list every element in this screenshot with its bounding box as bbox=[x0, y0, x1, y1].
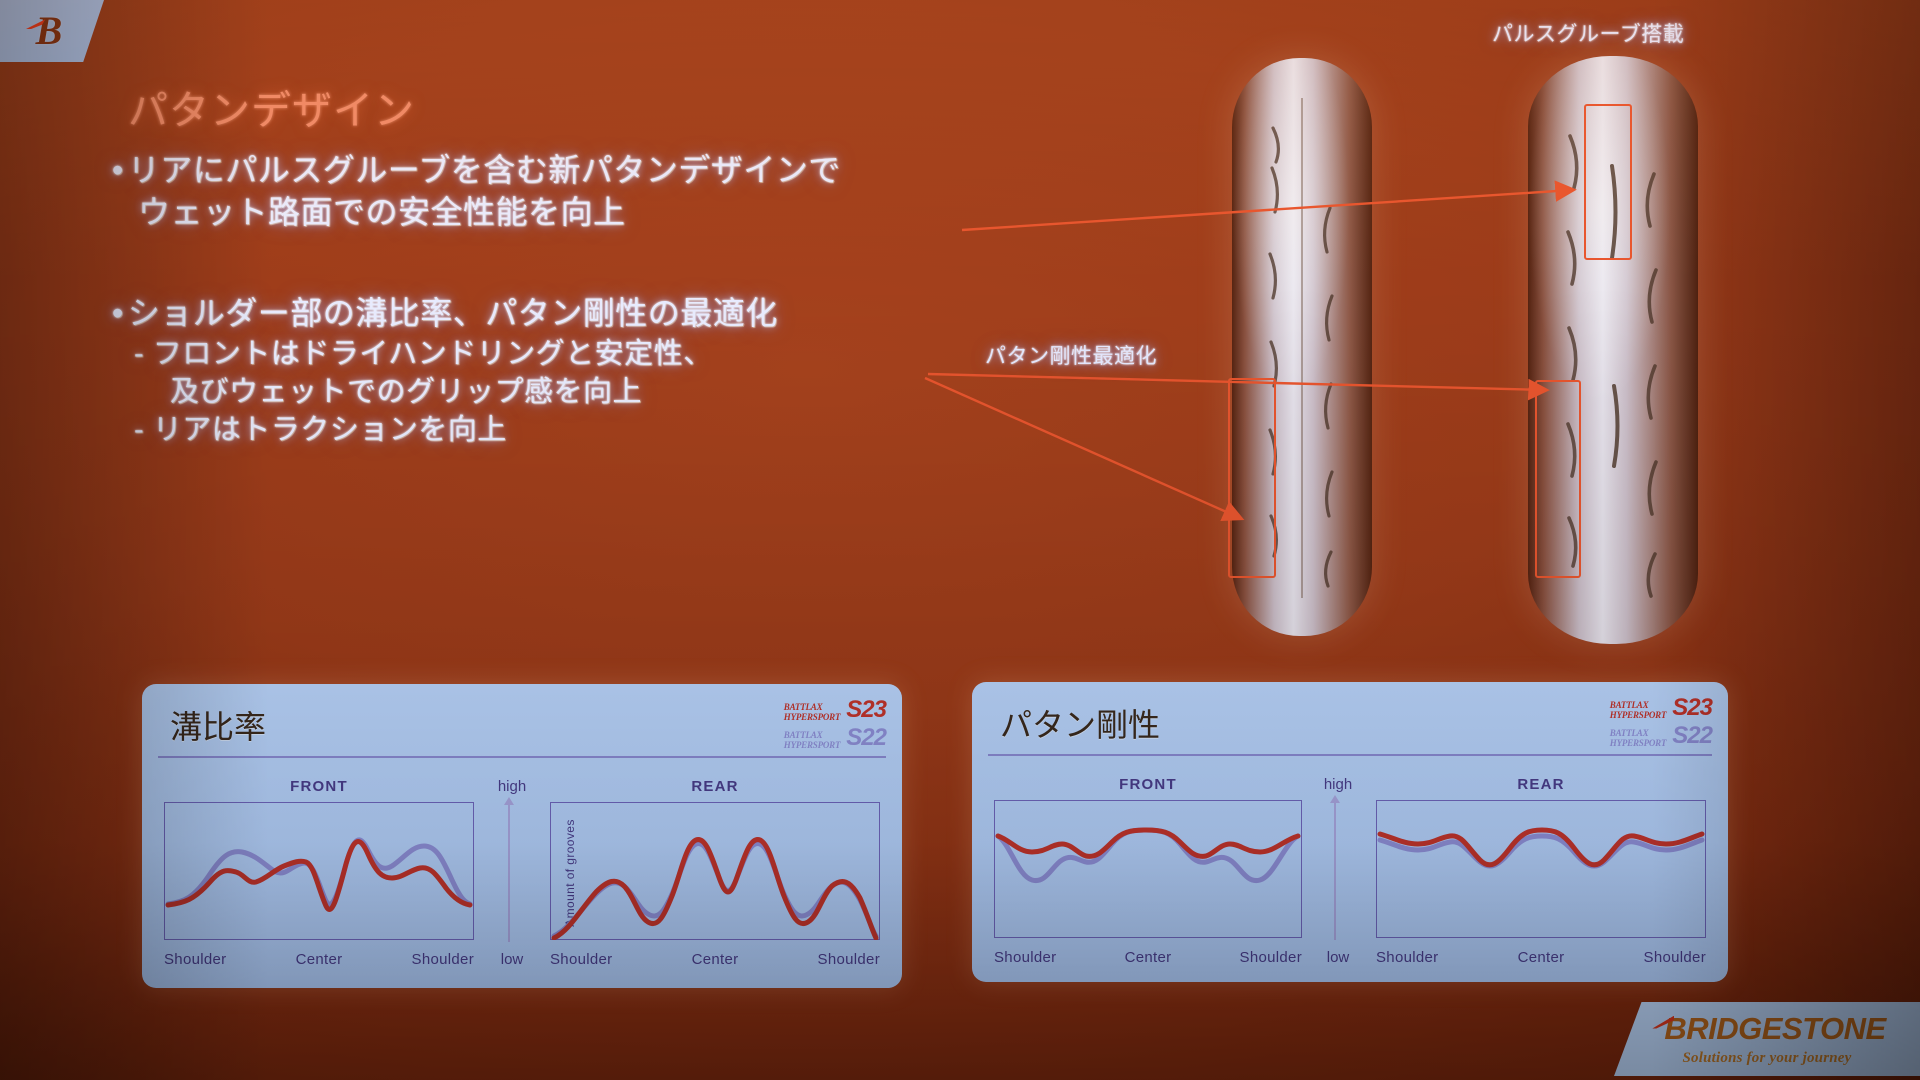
legend-s23: BATTLAX HYPERSPORT S23 bbox=[1610, 696, 1712, 720]
bullet-1-line-1: リアにパルスグルーブを含む新パタンデザインで bbox=[128, 152, 841, 188]
sub-bullet-1-line-1: フロントはドライハンドリングと安定性、 bbox=[153, 338, 713, 370]
legend-s22-model: S22 bbox=[846, 726, 886, 750]
chart-x-label-left: Shoulder bbox=[1376, 949, 1438, 966]
panel-pattern-rigidity: パタン剛性 BATTLAX HYPERSPORT S23 BATTLAX HYP… bbox=[972, 682, 1728, 982]
sub-bullet-marker: - bbox=[134, 338, 144, 370]
bridgestone-footer-logo: BRIDGESTONE Solutions for your journey bbox=[1614, 1002, 1920, 1076]
curve-s23 bbox=[998, 830, 1298, 856]
chart-y-axis-rigidity: high low bbox=[1308, 776, 1368, 966]
chart-x-label-left: Shoulder bbox=[164, 951, 226, 968]
chart-x-label-right: Shoulder bbox=[412, 951, 474, 968]
chart-title: FRONT bbox=[994, 776, 1302, 793]
curve-s22 bbox=[998, 830, 1298, 881]
panel-divider bbox=[988, 754, 1712, 756]
legend-s23-name2: HYPERSPORT bbox=[784, 713, 841, 722]
chart-y-axis-groove: high Amount of grooves low bbox=[482, 778, 542, 968]
bullet-spacer bbox=[112, 247, 902, 293]
legend-s22-model: S22 bbox=[1672, 724, 1712, 748]
chart-title: REAR bbox=[550, 778, 880, 795]
axis-high-label: high bbox=[1324, 776, 1352, 793]
bullet-marker: • bbox=[112, 152, 124, 188]
legend-s22: BATTLAX HYPERSPORT S22 bbox=[1610, 724, 1712, 748]
chart-x-label-mid: Center bbox=[1518, 949, 1565, 966]
bullet-item-2: •ショルダー部の溝比率、パタン剛性の最適化 - フロントはドライハンドリングと安… bbox=[112, 293, 902, 449]
rear-shoulder-marker-box bbox=[1535, 380, 1581, 578]
chart-x-label-left: Shoulder bbox=[994, 949, 1056, 966]
axis-arrow-icon bbox=[1334, 802, 1336, 940]
axis-arrow-icon bbox=[508, 804, 510, 942]
slide-canvas: B パタンデザイン •リアにパルスグルーブを含む新パタンデザインで ウェット路面… bbox=[0, 0, 1920, 1080]
pulse-groove-annotation: パルスグルーブ搭載 bbox=[1492, 18, 1684, 48]
legend-s23-model: S23 bbox=[1672, 696, 1712, 720]
curve-s23 bbox=[554, 840, 876, 938]
chart-curves bbox=[550, 802, 880, 940]
panel-title: パタン剛性 bbox=[1000, 700, 1160, 746]
axis-low-label: low bbox=[501, 951, 524, 968]
panel-groove-ratio: 溝比率 BATTLAX HYPERSPORT S23 BATTLAX HYPER… bbox=[142, 684, 902, 988]
bullet-marker: • bbox=[112, 295, 124, 331]
chart-x-label-mid: Center bbox=[692, 951, 739, 968]
front-shoulder-marker-box bbox=[1228, 378, 1276, 578]
panel-title: 溝比率 bbox=[170, 702, 266, 748]
legend-s23-model: S23 bbox=[846, 698, 886, 722]
chart-x-label-left: Shoulder bbox=[550, 951, 612, 968]
chart-x-label-mid: Center bbox=[1125, 949, 1172, 966]
bullet-list: •リアにパルスグルーブを含む新パタンデザインで ウェット路面での安全性能を向上 … bbox=[112, 150, 902, 464]
brand-tagline: Solutions for your journey bbox=[1683, 1051, 1852, 1066]
brand-legend: BATTLAX HYPERSPORT S23 BATTLAX HYPERSPOR… bbox=[784, 698, 886, 754]
sub-bullet-2-line-1: リアはトラクションを向上 bbox=[153, 414, 507, 446]
chart-curves bbox=[1376, 800, 1706, 938]
chart-curves bbox=[994, 800, 1302, 938]
chart-title: REAR bbox=[1376, 776, 1706, 793]
axis-high-label: high bbox=[498, 778, 526, 795]
legend-s22-name2: HYPERSPORT bbox=[784, 741, 841, 750]
brand-legend: BATTLAX HYPERSPORT S23 BATTLAX HYPERSPOR… bbox=[1610, 696, 1712, 752]
panel-divider bbox=[158, 756, 886, 758]
chart-rigidity-rear: REAR Shoulder Center Shoulder bbox=[1376, 776, 1706, 966]
legend-s23-name2: HYPERSPORT bbox=[1610, 711, 1667, 720]
curve-s23 bbox=[168, 842, 470, 910]
pattern-rigidity-annotation: パタン剛性最適化 bbox=[985, 340, 1157, 370]
bullet-item-1: •リアにパルスグルーブを含む新パタンデザインで ウェット路面での安全性能を向上 bbox=[112, 150, 902, 233]
chart-rigidity-front: FRONT Shoulder Center Shoulder bbox=[994, 776, 1302, 966]
page-title: パタンデザイン bbox=[128, 78, 415, 136]
legend-s22: BATTLAX HYPERSPORT S22 bbox=[784, 726, 886, 750]
chart-groove-front: FRONT Shoulder Center Shoulder bbox=[164, 778, 474, 968]
chart-title: FRONT bbox=[164, 778, 474, 795]
legend-s23: BATTLAX HYPERSPORT S23 bbox=[784, 698, 886, 722]
sub-bullet-marker: - bbox=[134, 414, 144, 446]
bullet-1-line-2: ウェット路面での安全性能を向上 bbox=[112, 192, 902, 234]
sub-bullet-1: - フロントはドライハンドリングと安定性、 及びウェットでのグリップ感を向上 bbox=[112, 335, 902, 412]
brand-wordmark: BRIDGESTONE bbox=[1648, 1013, 1885, 1044]
pulse-groove-marker-box bbox=[1584, 104, 1632, 260]
legend-s22-name2: HYPERSPORT bbox=[1610, 739, 1667, 748]
chart-x-label-right: Shoulder bbox=[1644, 949, 1706, 966]
chart-groove-rear: REAR Shoulder Center Shoulder bbox=[550, 778, 880, 968]
chart-x-label-right: Shoulder bbox=[818, 951, 880, 968]
axis-low-label: low bbox=[1327, 949, 1350, 966]
sub-bullet-2: - リアはトラクションを向上 bbox=[112, 411, 902, 449]
chart-curves bbox=[164, 802, 474, 940]
sub-bullet-1-line-2: 及びウェットでのグリップ感を向上 bbox=[134, 373, 902, 411]
bridgestone-b-logo-icon: B bbox=[0, 0, 104, 62]
bullet-2-line-1: ショルダー部の溝比率、パタン剛性の最適化 bbox=[128, 295, 778, 331]
chart-x-label-mid: Center bbox=[296, 951, 343, 968]
chart-x-label-right: Shoulder bbox=[1240, 949, 1302, 966]
